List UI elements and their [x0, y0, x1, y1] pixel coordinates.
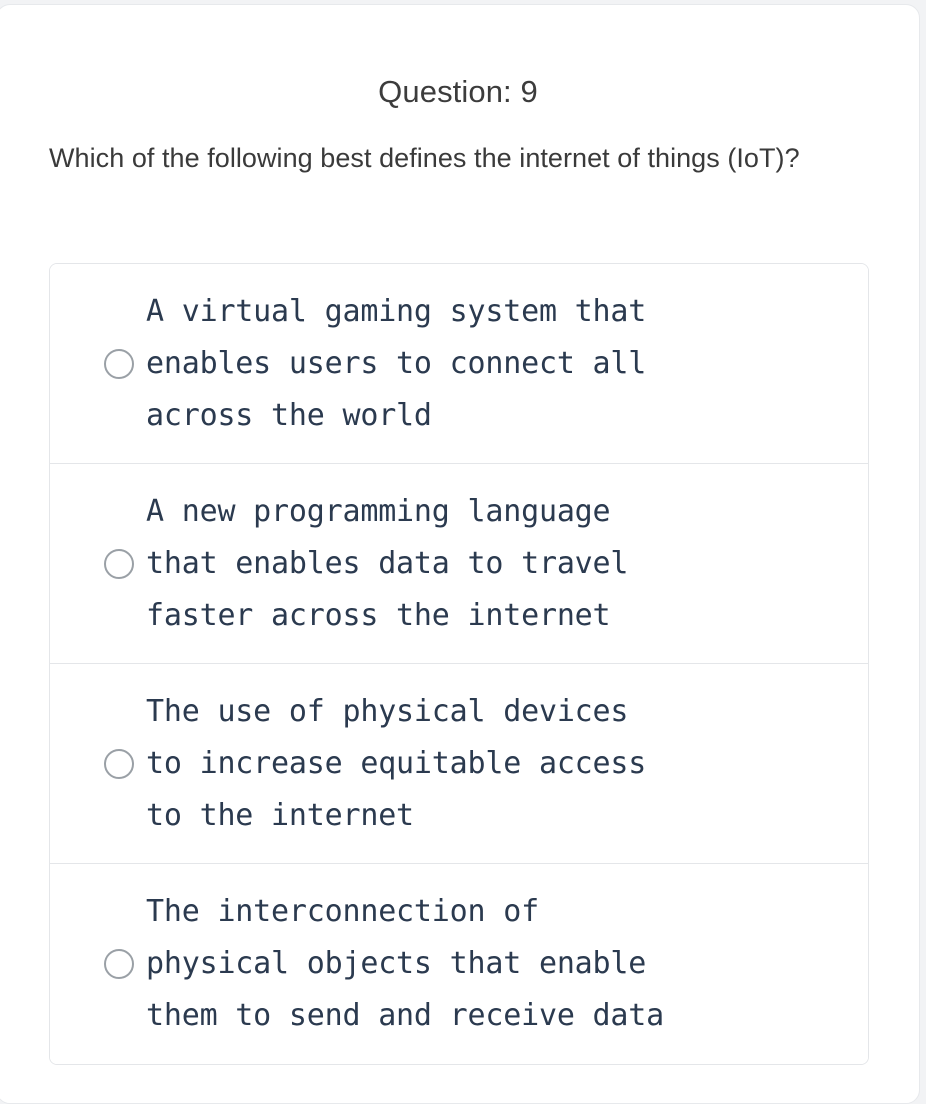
answer-options-list: A virtual gaming system that enables use…: [49, 263, 869, 1065]
answer-option-a[interactable]: A virtual gaming system that enables use…: [50, 264, 868, 464]
radio-unchecked-icon[interactable]: [104, 749, 134, 779]
radio-unchecked-icon[interactable]: [104, 949, 134, 979]
answer-option-d[interactable]: The interconnection of physical objects …: [50, 864, 868, 1064]
quiz-panel: Question: 9 Which of the following best …: [0, 4, 920, 1104]
answer-option-c[interactable]: The use of physical devices to increase …: [50, 664, 868, 864]
radio-unchecked-icon[interactable]: [104, 349, 134, 379]
question-number-heading: Question: 9: [0, 5, 919, 112]
answer-option-a-label: A virtual gaming system that enables use…: [146, 286, 854, 442]
quiz-content: Question: 9 Which of the following best …: [0, 5, 919, 1103]
answer-option-c-label: The use of physical devices to increase …: [146, 686, 854, 842]
answer-option-b[interactable]: A new programming language that enables …: [50, 464, 868, 664]
answer-option-d-label: The interconnection of physical objects …: [146, 886, 854, 1042]
question-prompt-text: Which of the following best defines the …: [0, 112, 919, 184]
radio-unchecked-icon[interactable]: [104, 549, 134, 579]
answer-option-b-label: A new programming language that enables …: [146, 486, 854, 642]
